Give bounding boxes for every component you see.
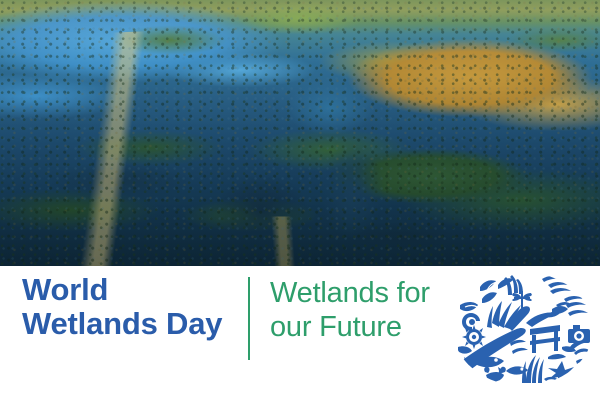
event-title-line-2: Wetlands Day (22, 306, 222, 341)
wetland-aerial-photo (0, 0, 600, 266)
event-tagline-line-2: our Future (270, 310, 430, 344)
world-wetlands-day-poster: World Wetlands Day Wetlands for our Futu… (0, 0, 600, 400)
event-title: World Wetlands Day (22, 273, 222, 341)
event-title-line-1: World (22, 272, 108, 307)
event-tagline: Wetlands for our Future (270, 276, 430, 344)
photo-vignette (0, 0, 600, 266)
logo-banner: World Wetlands Day Wetlands for our Futu… (0, 266, 600, 400)
title-tagline-divider (248, 277, 250, 360)
world-wetlands-day-logo (452, 271, 594, 387)
event-tagline-line-1: Wetlands for (270, 277, 430, 309)
